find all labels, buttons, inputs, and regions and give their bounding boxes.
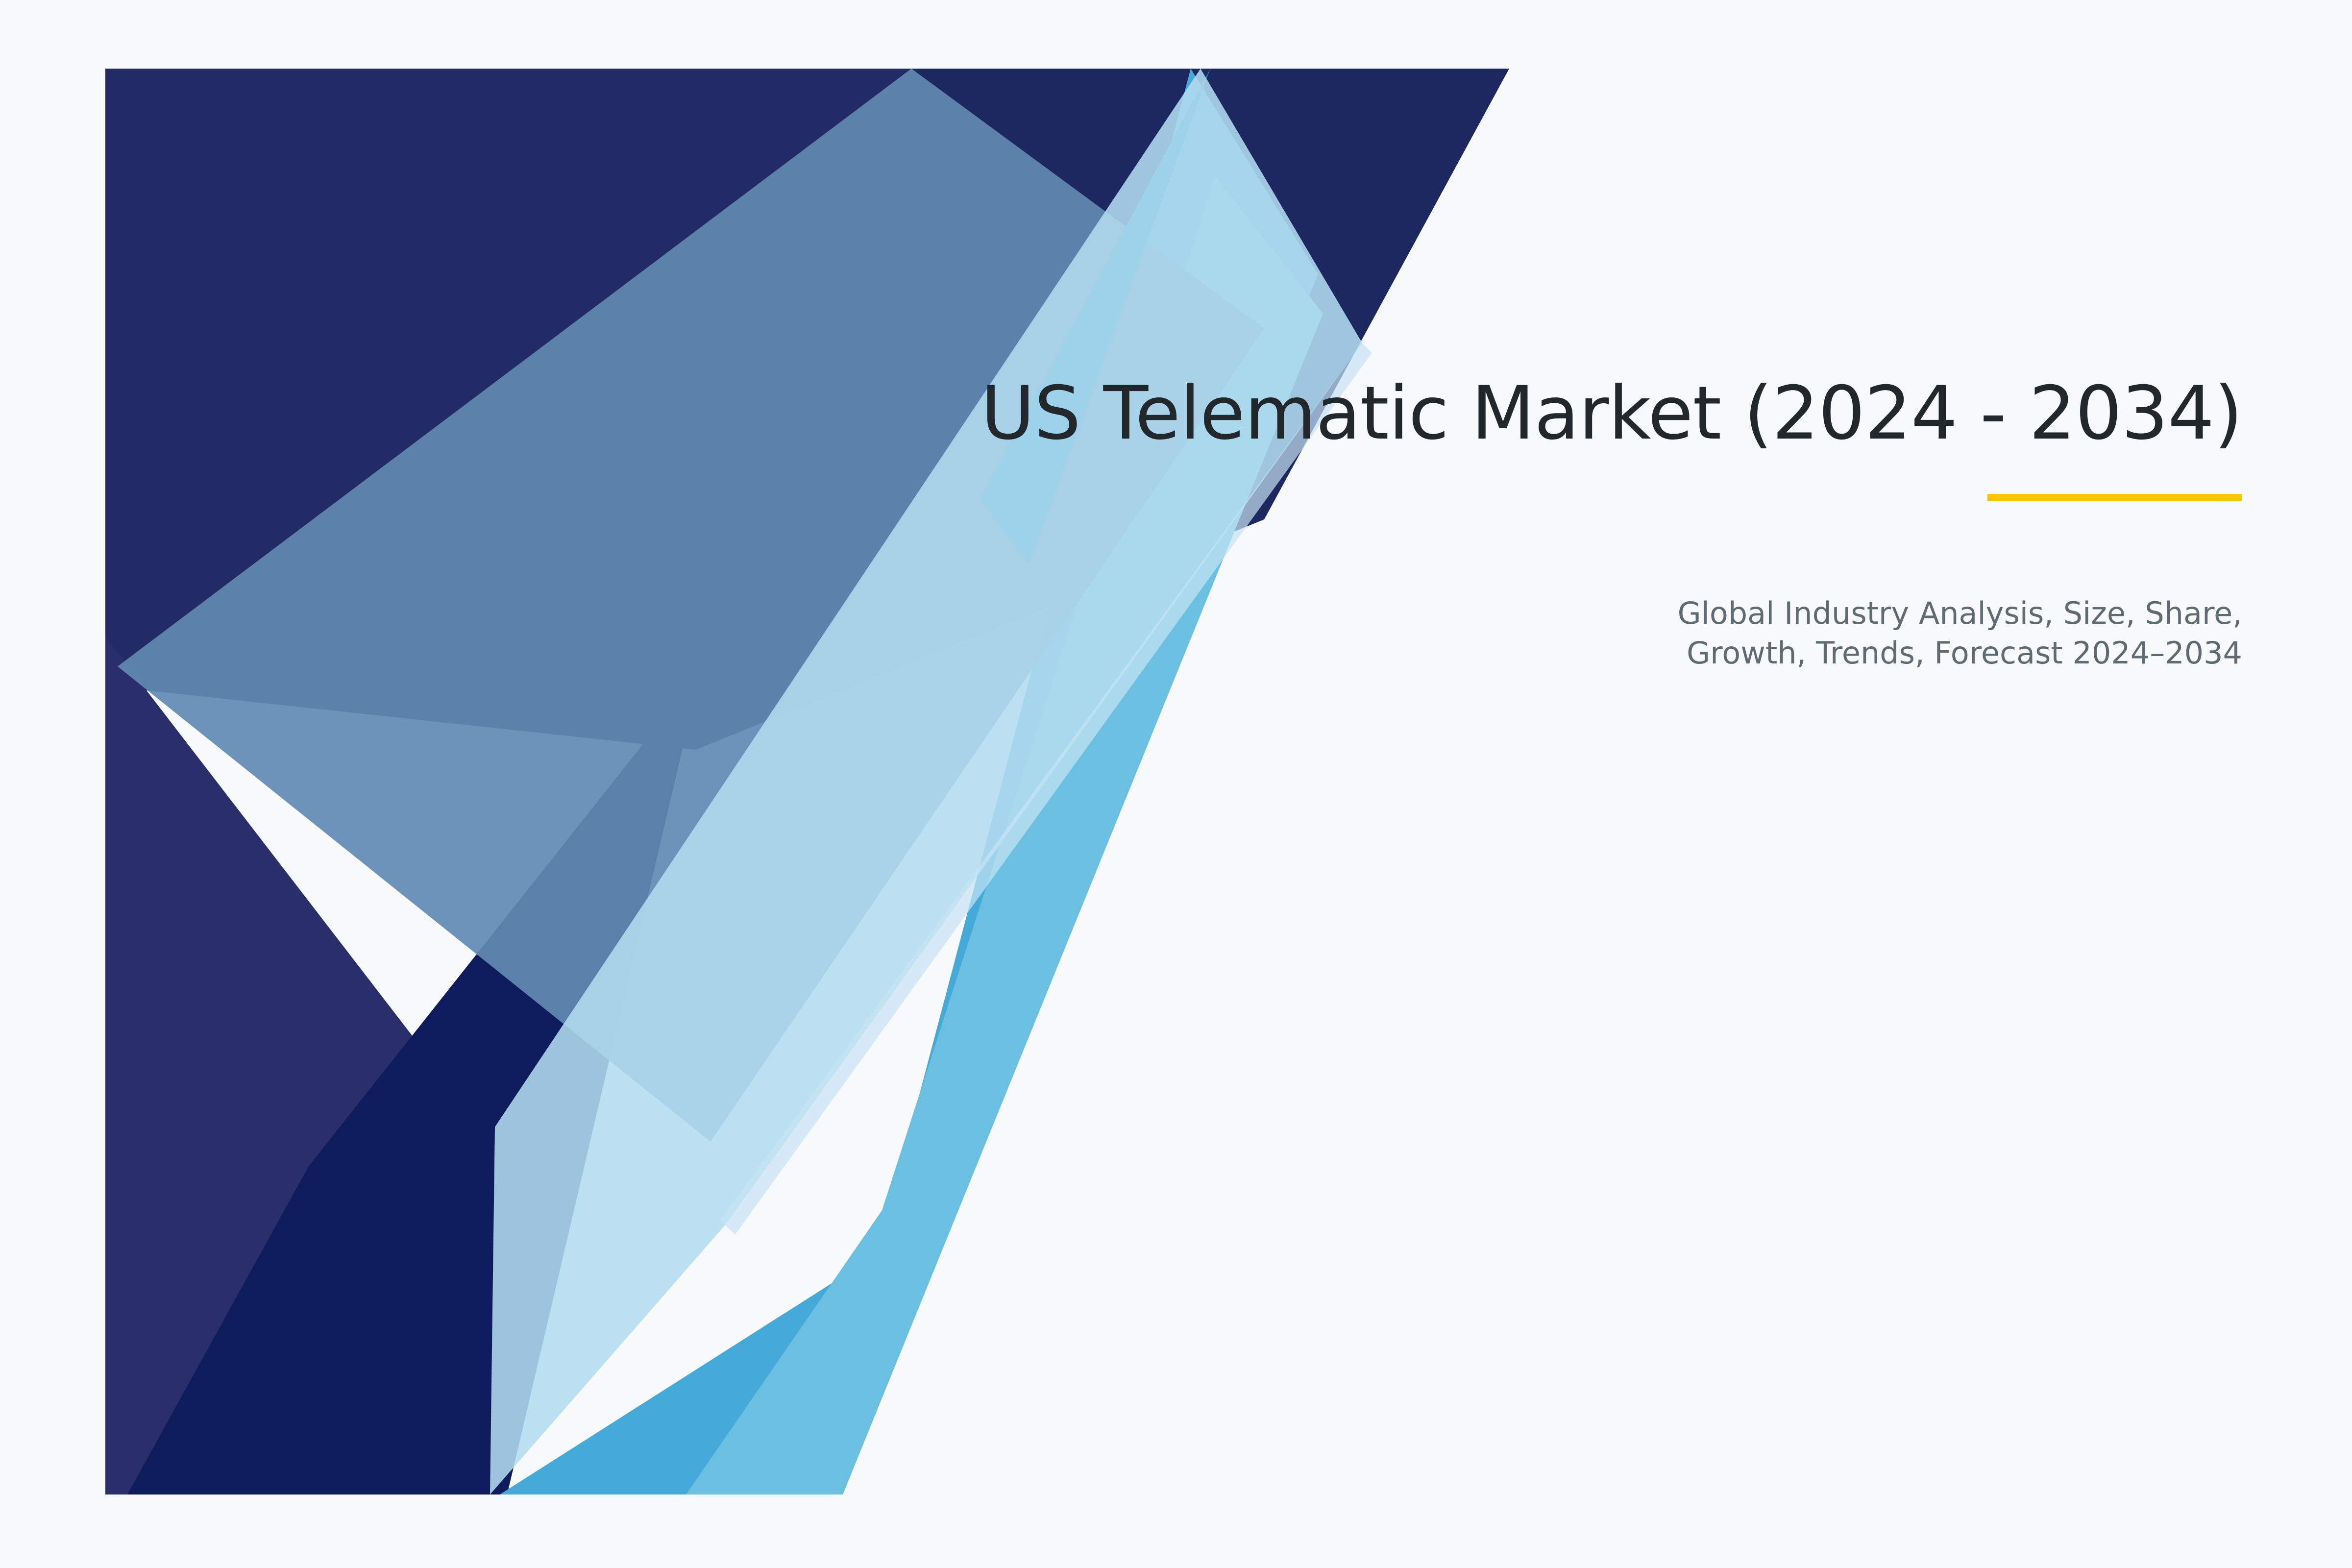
page-title: US Telematic Market (2024 - 2034) [931,372,2242,455]
report-cover-page: US Telematic Market (2024 - 2034) Global… [0,0,2352,1568]
cover-text-block: US Telematic Market (2024 - 2034) Global… [931,372,2242,673]
title-accent-rule [1987,494,2242,501]
accent-rule-container [931,494,2242,501]
page-subtitle: Global Industry Analysis, Size, Share, G… [1595,594,2242,673]
abstract-geometric-artwork [0,0,2352,1568]
